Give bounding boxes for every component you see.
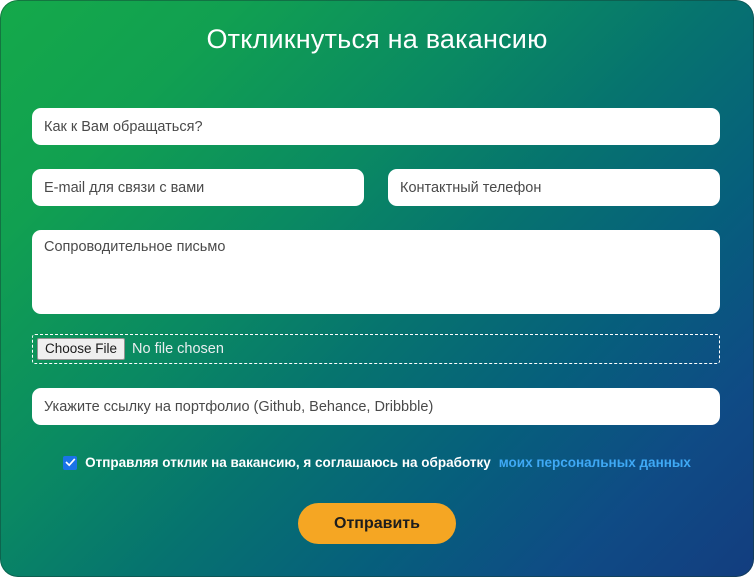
cover-letter-row	[32, 230, 720, 314]
consent-checkbox[interactable]	[63, 456, 77, 470]
file-upload-row: Choose File No file chosen	[32, 334, 720, 364]
submit-button[interactable]: Отправить	[298, 503, 456, 544]
consent-label: Отправляя отклик на вакансию, я соглашаю…	[85, 455, 491, 470]
choose-file-button[interactable]: Choose File	[37, 338, 125, 360]
name-input[interactable]	[32, 108, 720, 145]
email-field-row	[32, 169, 364, 206]
personal-data-link[interactable]: моих персональных данных	[499, 455, 691, 470]
file-status-label: No file chosen	[132, 341, 224, 357]
portfolio-field-row	[32, 388, 720, 425]
phone-input[interactable]	[388, 169, 720, 206]
phone-field-row	[388, 169, 720, 206]
page-title: Откликнуться на вакансию	[0, 22, 754, 56]
consent-row: Отправляя отклик на вакансию, я соглашаю…	[0, 455, 754, 470]
cover-letter-textarea[interactable]	[32, 230, 720, 314]
email-input[interactable]	[32, 169, 364, 206]
name-field-row	[32, 108, 720, 145]
file-upload-dropzone[interactable]: Choose File No file chosen	[32, 334, 720, 364]
portfolio-input[interactable]	[32, 388, 720, 425]
submit-row: Отправить	[0, 503, 754, 544]
job-application-form: Откликнуться на вакансию Choose File No …	[0, 0, 754, 577]
checkmark-icon	[65, 457, 76, 468]
